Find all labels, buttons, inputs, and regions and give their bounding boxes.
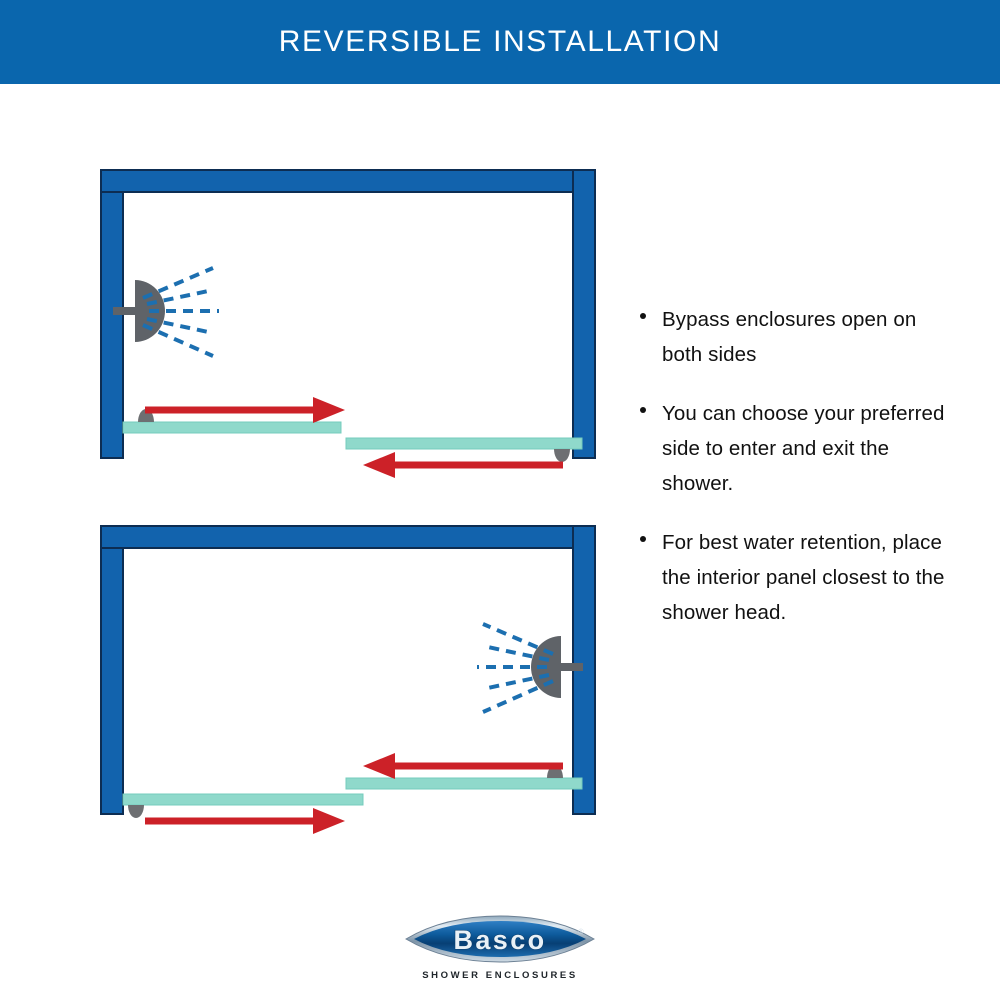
bullet-dot-icon [640, 302, 662, 319]
arrow-slide-right [145, 397, 345, 423]
bullet-dot-icon [640, 396, 662, 413]
panel-handle-knob [554, 449, 570, 462]
diagram-showerhead-left [95, 160, 615, 510]
logo-wordmark: Basco [453, 925, 546, 955]
water-spray-icon [477, 624, 553, 712]
content-area: Bypass enclosures open on both sides You… [0, 84, 1000, 1000]
page-root: REVERSIBLE INSTALLATION [0, 0, 1000, 1000]
enclosure-frame [101, 526, 595, 814]
arrow-slide-right [145, 808, 345, 834]
bullet-dot-icon [640, 525, 662, 542]
diagram-showerhead-right [95, 516, 615, 866]
list-item: You can choose your preferred side to en… [640, 396, 960, 501]
water-spray-icon [143, 268, 219, 356]
list-item-label: You can choose your preferred side to en… [662, 396, 960, 501]
list-item-label: Bypass enclosures open on both sides [662, 302, 960, 372]
feature-bullet-list: Bypass enclosures open on both sides You… [640, 302, 960, 654]
list-item-label: For best water retention, place the inte… [662, 525, 960, 630]
logo-registered-mark: ® [578, 928, 584, 936]
brand-logo: Basco ® SHOWER ENCLOSURES [400, 912, 600, 986]
arrow-slide-left [363, 753, 563, 779]
panel-handle-knob [128, 805, 144, 818]
logo-tagline: SHOWER ENCLOSURES [422, 970, 578, 981]
list-item: For best water retention, place the inte… [640, 525, 960, 630]
enclosure-frame [101, 170, 595, 458]
page-header: REVERSIBLE INSTALLATION [0, 0, 1000, 84]
arrow-slide-left [363, 452, 563, 478]
list-item: Bypass enclosures open on both sides [640, 302, 960, 372]
page-title: REVERSIBLE INSTALLATION [279, 27, 721, 57]
